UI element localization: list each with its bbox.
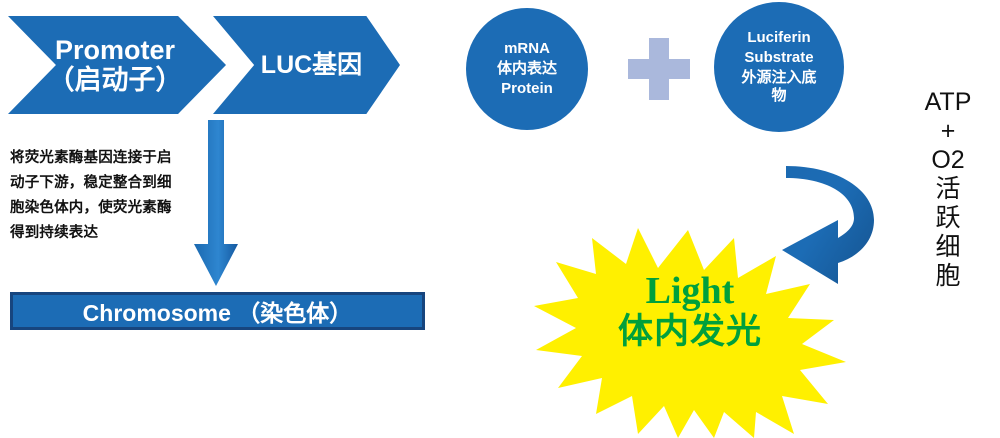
cofactor-line-1: ATP: [916, 88, 980, 117]
cofactor-line-3: O2: [916, 146, 980, 175]
promoter-label: Promoter （启动子）: [48, 35, 183, 95]
luc-gene-chevron: LUC基因: [213, 16, 400, 114]
luciferin-circle: Luciferin Substrate 外源注入底 物: [714, 2, 844, 132]
cofactor-line-5: 跃: [916, 204, 980, 233]
mrna-circle: mRNA 体内表达 Protein: [466, 8, 588, 130]
cofactor-line-4: 活: [916, 175, 980, 204]
mrna-line-1: mRNA: [504, 39, 550, 59]
cofactor-line-2: +: [916, 117, 980, 146]
cofactor-line-6: 细: [916, 233, 980, 262]
luciferin-line-3: 外源注入底: [741, 69, 816, 88]
gene-construct-group: Promoter （启动子） LUC基因: [8, 16, 400, 114]
diagram-canvas: Promoter （启动子） LUC基因 将荧光素酶基因连接于启动子下游，稳定整…: [0, 0, 1000, 430]
promoter-chevron: Promoter （启动子）: [8, 16, 226, 114]
promoter-label-cn: （启动子）: [48, 65, 183, 95]
luciferin-line-1: Luciferin: [747, 28, 810, 48]
chromosome-label: Chromosome （染色体）: [83, 294, 353, 328]
cofactor-column: ATP + O2 活 跃 细 胞: [916, 88, 980, 291]
cofactor-line-7: 胞: [916, 262, 980, 291]
mrna-line-2: 体内表达: [497, 59, 557, 79]
luciferin-line-4: 物: [771, 87, 786, 106]
starburst-icon: [528, 228, 848, 438]
mrna-line-3: Protein: [501, 79, 553, 99]
chromosome-bar: Chromosome （染色体）: [10, 292, 425, 330]
luc-gene-label: LUC基因: [261, 51, 362, 79]
description-text: 将荧光素酶基因连接于启动子下游，稳定整合到细胞染色体内，使荧光素酶得到持续表达: [10, 146, 182, 246]
luciferin-line-2: Substrate: [744, 48, 813, 68]
down-arrow-icon: [192, 120, 240, 288]
plus-icon: [628, 38, 690, 100]
promoter-label-en: Promoter: [48, 35, 183, 65]
